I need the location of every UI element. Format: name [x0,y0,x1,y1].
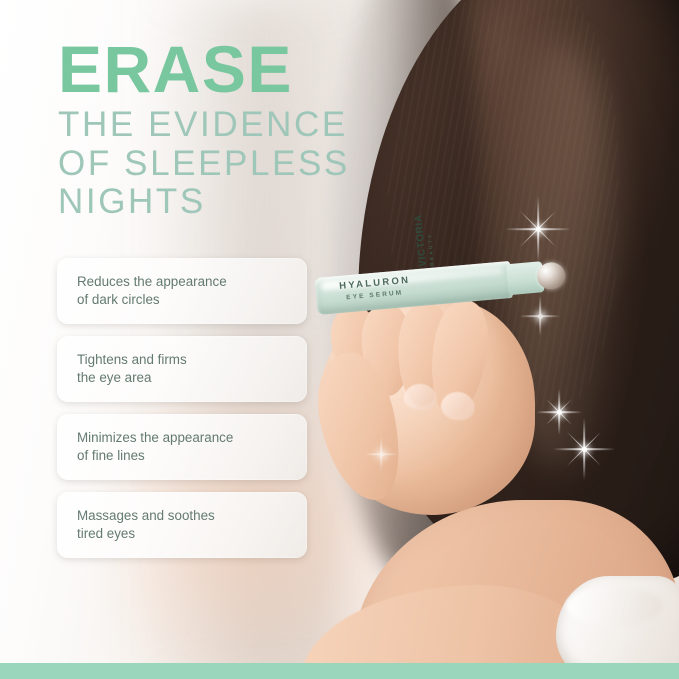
feature-card-text: Tightens and firms the eye area [57,351,197,387]
feature-card: Reduces the appearance of dark circles [57,258,307,324]
feature-card-list: Reduces the appearance of dark circles T… [57,258,307,570]
promo-image-canvas: HYALURON EYE SERUM VICTORIA BEAUTY [0,0,679,679]
tank-top-fold [566,586,662,626]
feature-card-text: Reduces the appearance of dark circles [57,273,237,309]
headline-primary: ERASE [58,38,478,100]
headline-secondary: THE EVIDENCE OF SLEEPLESS NIGHTS [58,106,478,222]
feature-card: Minimizes the appearance of fine lines [57,414,307,480]
feature-card: Tightens and firms the eye area [57,336,307,402]
bottom-accent-bar [0,663,679,679]
headline-block: ERASE THE EVIDENCE OF SLEEPLESS NIGHTS [58,38,478,222]
feature-card: Massages and soothes tired eyes [57,492,307,558]
feature-card-text: Minimizes the appearance of fine lines [57,429,243,465]
feature-card-text: Massages and soothes tired eyes [57,507,225,543]
